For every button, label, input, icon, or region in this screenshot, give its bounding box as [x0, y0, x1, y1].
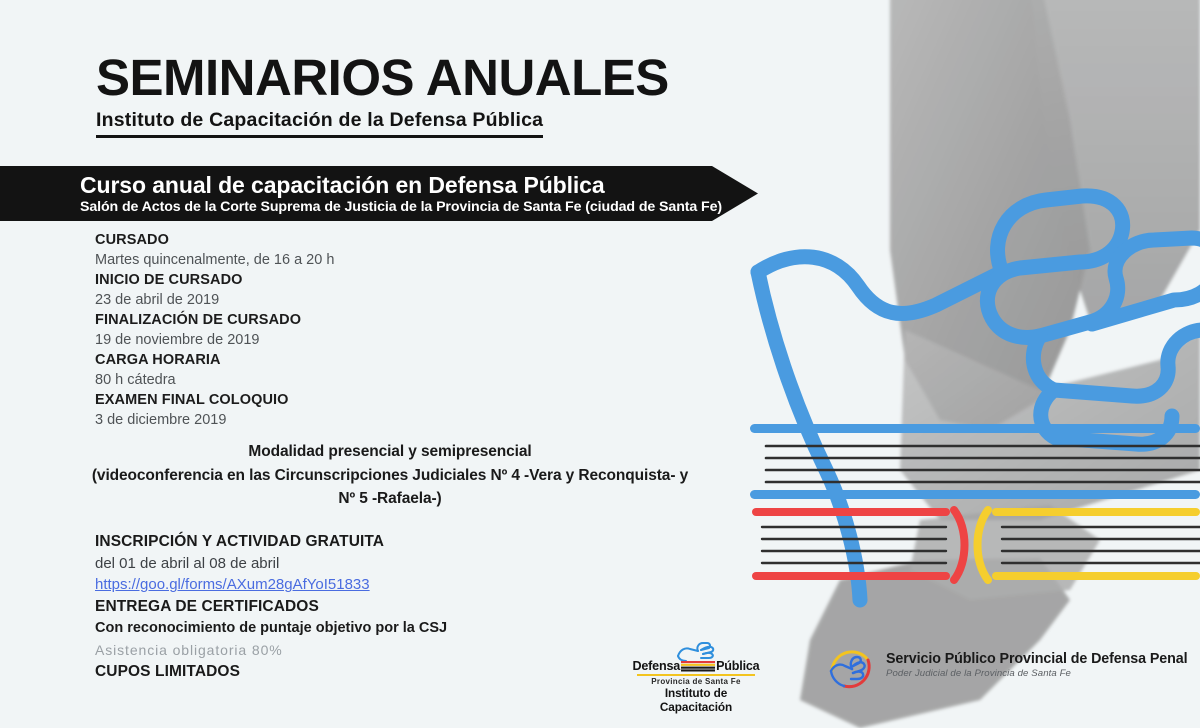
- detail-value-cursado: Martes quincenalmente, de 16 a 20 h: [95, 250, 334, 270]
- logo-province-label: Provincia de Santa Fe: [632, 677, 760, 686]
- modality-line-1: Modalidad presencial y semipresencial: [40, 440, 740, 464]
- logo-word-publica: Pública: [716, 659, 759, 673]
- poster-root: SEMINARIOS ANUALES Instituto de Capacita…: [0, 0, 1200, 728]
- logo-yellow-underline: [637, 674, 755, 676]
- hand-circle-icon: [822, 640, 878, 690]
- yellow-book-graphic: [978, 508, 1200, 580]
- red-book-graphic: [752, 508, 965, 580]
- detail-label-carga-horaria: CARGA HORARIA: [95, 350, 334, 370]
- hand-book-icon: [632, 638, 760, 660]
- page-subtitle-wrapper: Instituto de Capacitación de la Defensa …: [96, 109, 543, 138]
- modality-block: Modalidad presencial y semipresencial (v…: [40, 440, 740, 511]
- logo-servicio-publico: Servicio Público Provincial de Defensa P…: [822, 640, 1188, 690]
- detail-value-carga-horaria: 80 h cátedra: [95, 370, 334, 390]
- inscription-form-link[interactable]: https://goo.gl/forms/AXum28gAfYoI51833: [95, 574, 370, 596]
- blue-hand-outline: [758, 196, 1200, 600]
- logo-servicio-subtitle: Poder Judicial de la Provincia de Santa …: [886, 668, 1188, 679]
- logo-servicio-title: Servicio Público Provincial de Defensa P…: [886, 651, 1188, 667]
- detail-label-examen: EXAMEN FINAL COLOQUIO: [95, 390, 334, 410]
- modality-line-3: Nº 5 -Rafaela-): [40, 487, 740, 511]
- logo-institute-label: Instituto de Capacitación: [632, 686, 760, 714]
- detail-value-inicio: 23 de abril de 2019: [95, 290, 334, 310]
- gray-province-shape: [800, 505, 1100, 728]
- detail-value-examen: 3 de diciembre 2019: [95, 410, 334, 430]
- logo-servicio-text: Servicio Público Provincial de Defensa P…: [886, 651, 1188, 679]
- gray-hand-shape: [890, 0, 1200, 520]
- mini-book-icon: [681, 661, 715, 672]
- inscription-block: INSCRIPCIÓN Y ACTIVIDAD GRATUITA del 01 …: [95, 531, 447, 683]
- banner-title: Curso anual de capacitación en Defensa P…: [80, 172, 605, 199]
- certificates-heading: ENTREGA DE CERTIFICADOS: [95, 596, 447, 618]
- limited-seats-note: CUPOS LIMITADOS: [95, 661, 447, 683]
- logo-defensa-publica: Defensa Pública Provincia de Santa Fe In…: [632, 638, 760, 714]
- page-subtitle: Instituto de Capacitación de la Defensa …: [96, 109, 543, 132]
- modality-line-2: (videoconferencia en las Circunscripcion…: [40, 464, 740, 488]
- page-title: SEMINARIOS ANUALES: [96, 52, 669, 103]
- logo-wordmark-row: Defensa Pública: [632, 659, 760, 673]
- inscription-heading: INSCRIPCIÓN Y ACTIVIDAD GRATUITA: [95, 531, 447, 553]
- blue-book-graphic: [750, 424, 1200, 499]
- attendance-requirement: Asistencia obligatoria 80%: [95, 640, 447, 661]
- detail-label-cursado: CURSADO: [95, 230, 334, 250]
- course-banner: Curso anual de capacitación en Defensa P…: [0, 166, 758, 221]
- inscription-dates: del 01 de abril al 08 de abril: [95, 553, 447, 574]
- detail-label-inicio: INICIO DE CURSADO: [95, 270, 334, 290]
- course-details-list: CURSADO Martes quincenalmente, de 16 a 2…: [95, 230, 334, 430]
- certificates-note: Con reconocimiento de puntaje objetivo p…: [95, 618, 447, 639]
- background-artwork: [740, 0, 1200, 728]
- detail-value-finalizacion: 19 de noviembre de 2019: [95, 330, 334, 350]
- poster-header: SEMINARIOS ANUALES Instituto de Capacita…: [96, 52, 669, 138]
- banner-venue: Salón de Actos de la Corte Suprema de Ju…: [80, 199, 722, 215]
- logo-word-defensa: Defensa: [632, 659, 680, 673]
- detail-label-finalizacion: FINALIZACIÓN DE CURSADO: [95, 310, 334, 330]
